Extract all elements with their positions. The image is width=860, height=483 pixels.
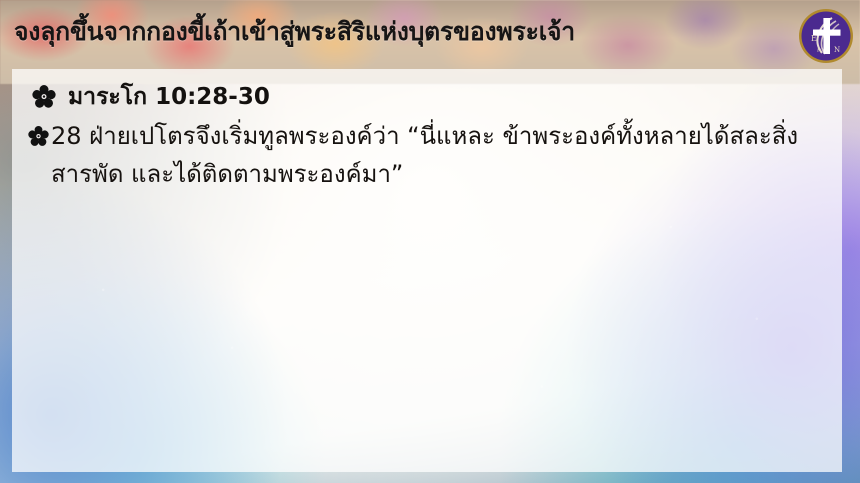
svg-text:ก: ก (817, 46, 821, 54)
verse-reference-line: มาระโก 10:28-30 (32, 83, 828, 111)
slide-title: จงลุกขึ้นจากกองขี้เถ้าเข้าสู่พระสิริแห่ง… (14, 17, 848, 47)
flower-bullet-icon (28, 126, 49, 147)
church-cross-dove-logo: E ก N (798, 8, 854, 64)
flower-bullet-icon (32, 85, 56, 109)
verse-reference-text: มาระโก 10:28-30 (68, 83, 270, 111)
svg-text:E: E (811, 34, 817, 43)
svg-text:N: N (834, 46, 840, 54)
verse-content-panel: มาระโก 10:28-30 28 ฝ่ายเปโตรจ (12, 69, 842, 472)
verse-body-line: 28 ฝ่ายเปโตรจึงเริ่มทูลพระองค์ว่า “นี่แห… (28, 117, 828, 193)
presentation-slide: จงลุกขึ้นจากกองขี้เถ้าเข้าสู่พระสิริแห่ง… (0, 0, 860, 483)
slide-header: จงลุกขึ้นจากกองขี้เถ้าเข้าสู่พระสิริแห่ง… (0, 0, 860, 64)
verse-body-text: 28 ฝ่ายเปโตรจึงเริ่มทูลพระองค์ว่า “นี่แห… (51, 117, 828, 193)
